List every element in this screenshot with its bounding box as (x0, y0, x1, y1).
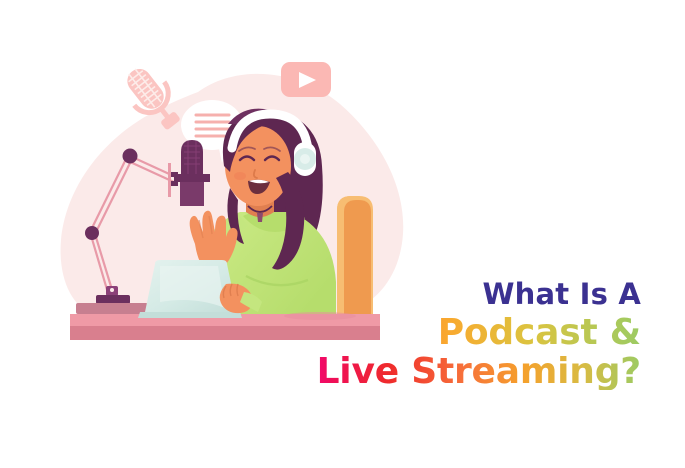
headline-line-live-streaming: Live Streaming? (271, 354, 641, 390)
banner-canvas: What Is A Podcast & Live Streaming? (0, 0, 685, 468)
headline-block: What Is A Podcast & Live Streaming? (271, 280, 641, 390)
headline-line-podcast: Podcast & (271, 315, 641, 351)
headline-line-what-is-a: What Is A (271, 280, 641, 309)
video-play-badge (281, 62, 331, 97)
podcast-illustration (0, 0, 685, 468)
